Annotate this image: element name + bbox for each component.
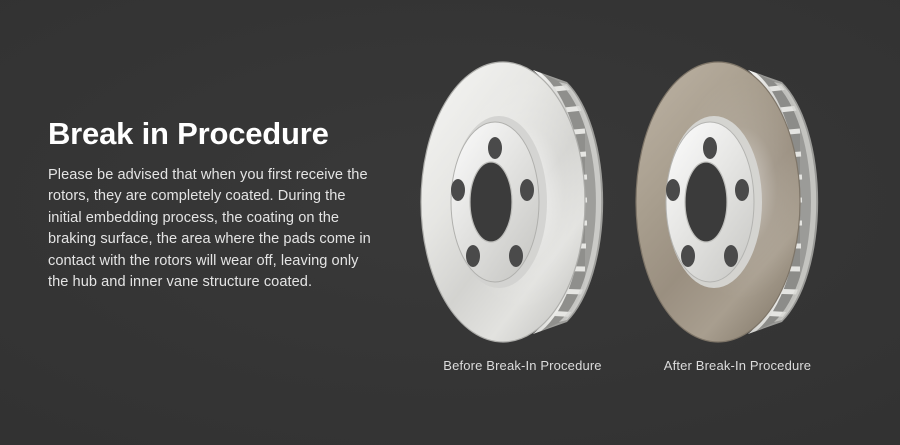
figure-caption-before: Before Break-In Procedure (415, 358, 630, 373)
text-block: Break in Procedure Please be advised tha… (48, 118, 378, 294)
figure-caption-after: After Break-In Procedure (630, 358, 845, 373)
brake-rotor-worn-image (630, 52, 845, 352)
rotor-comparison: Before Break-In Procedure (400, 52, 870, 392)
page-title: Break in Procedure (48, 118, 378, 151)
break-in-procedure-banner: Break in Procedure Please be advised tha… (0, 0, 900, 445)
brake-rotor-coated-image (415, 52, 630, 352)
figure-after: After Break-In Procedure (630, 52, 845, 392)
body-paragraph: Please be advised that when you first re… (48, 165, 378, 294)
figure-before: Before Break-In Procedure (415, 52, 630, 392)
